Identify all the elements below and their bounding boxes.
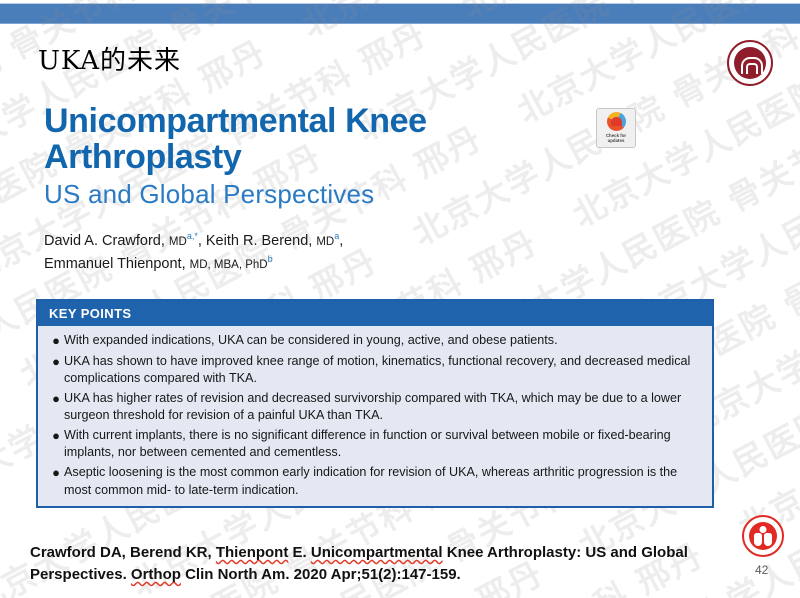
key-point-text: UKA has shown to have improved knee rang…: [64, 353, 700, 387]
list-item: ● UKA has higher rates of revision and d…: [48, 390, 700, 424]
citation-misspelled-orthop: Orthop: [131, 566, 181, 583]
paper-title-line1: Unicompartmental Knee: [44, 102, 427, 140]
citation-misspelled-thienpont: Thienpont: [216, 544, 288, 561]
author-degree-3: MD, MBA, PhD: [190, 258, 268, 270]
author-affil-3: b: [268, 254, 273, 264]
paper-subtitle: US and Global Perspectives: [44, 179, 564, 210]
key-points-box: KEY POINTS ● With expanded indications, …: [36, 299, 714, 508]
author-list: David A. Crawford, MDa,*, Keith R. Beren…: [44, 230, 343, 275]
paper-title: Unicompartmental Knee Arthroplasty: [44, 103, 564, 175]
joint-clinic-logo-icon: [742, 515, 784, 557]
author-name-thienpont: Emmanuel Thienpont,: [44, 255, 186, 271]
key-point-text: Aseptic loosening is the most common ear…: [64, 464, 700, 498]
paper-title-block: Unicompartmental Knee Arthroplasty US an…: [44, 103, 564, 210]
citation-misspelled-unicompartmental: Unicompartmental: [311, 544, 443, 561]
bullet-icon: ●: [48, 464, 64, 498]
watermark-text: 北京大学人民医院 骨关节科 邢丹: [734, 273, 800, 545]
watermark-text: 北京大学人民医院 骨关节科 邢丹: [623, 65, 800, 337]
peking-university-logo-icon: [727, 40, 773, 86]
key-points-list: ● With expanded indications, UKA can be …: [38, 326, 712, 499]
pku-seal-glyph: [734, 47, 766, 79]
list-item: ● With current implants, there is no sig…: [48, 427, 700, 461]
citation-part-2: E.: [288, 544, 311, 561]
author-name-berend: Keith R. Berend,: [206, 233, 312, 249]
bullet-icon: ●: [48, 390, 64, 424]
author-name-crawford: David A. Crawford,: [44, 233, 165, 249]
page-number: 42: [755, 563, 768, 577]
watermark-text: 北京大学人民医院 骨关节科 邢丹: [789, 377, 800, 598]
paper-title-line2: Arthroplasty: [44, 138, 241, 176]
slide-canvas: 北京大学人民医院 骨关节科 邢丹 北京大学人民医院 骨关节科 邢丹 北京大学人民…: [0, 0, 800, 598]
crossmark-label-line2: updates: [608, 138, 625, 143]
author-line1-end: ,: [339, 233, 343, 249]
key-point-text: UKA has higher rates of revision and dec…: [64, 390, 700, 424]
list-item: ● Aseptic loosening is the most common e…: [48, 464, 700, 498]
author-line-2: Emmanuel Thienpont, MD, MBA, PhDb: [44, 253, 343, 276]
list-item: ● With expanded indications, UKA can be …: [48, 332, 700, 350]
crossmark-icon: [607, 112, 626, 131]
author-separator: ,: [198, 233, 206, 249]
author-degree-1: MD: [169, 236, 187, 248]
bullet-icon: ●: [48, 332, 64, 350]
citation-part-1: Crawford DA, Berend KR,: [30, 544, 216, 561]
author-line-1: David A. Crawford, MDa,*, Keith R. Beren…: [44, 230, 343, 253]
crossmark-label-line1: Check for: [606, 133, 626, 138]
key-point-text: With expanded indications, UKA can be co…: [64, 332, 700, 350]
key-points-header: KEY POINTS: [38, 301, 712, 326]
slide-heading-chinese: UKA的未来: [38, 40, 181, 77]
top-accent-band: [0, 3, 800, 24]
citation-part-4: Clin North Am. 2020 Apr;51(2):147-159.: [181, 566, 461, 583]
key-point-text: With current implants, there is no signi…: [64, 427, 700, 461]
author-degree-2: MD: [316, 236, 334, 248]
crossmark-label: Check for updates: [606, 133, 626, 144]
bullet-icon: ●: [48, 353, 64, 387]
list-item: ● UKA has shown to have improved knee ra…: [48, 353, 700, 387]
check-for-updates-button[interactable]: Check for updates: [596, 108, 636, 148]
citation-text: Crawford DA, Berend KR, Thienpont E. Uni…: [30, 542, 730, 586]
author-affil-1: a,*: [187, 231, 198, 241]
bullet-icon: ●: [48, 427, 64, 461]
clinic-seal-dot: [760, 526, 767, 533]
clinic-seal-glyph: [749, 522, 777, 550]
